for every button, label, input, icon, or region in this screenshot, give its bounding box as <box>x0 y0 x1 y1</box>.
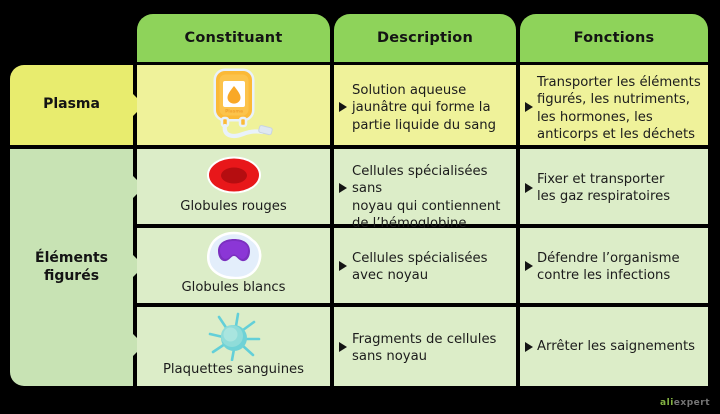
row-group-label-elements-figures: Éléments figurés <box>10 149 133 386</box>
row-group-figures-text: Éléments figurés <box>10 250 133 285</box>
bullet-arrow-icon <box>339 342 347 352</box>
cell-description-globules-rouges: Cellules spécialisées sans noyau qui con… <box>334 149 516 224</box>
fonctions-plasma-text: Transporter les éléments figurés, les nu… <box>537 74 707 144</box>
white-blood-cell-icon <box>205 231 263 279</box>
cell-fonctions-globules-blancs: Défendre l’organisme contre les infectio… <box>520 228 708 303</box>
header-constituant-label: Constituant <box>185 30 283 46</box>
header-fonctions: Fonctions <box>520 14 708 62</box>
description-globules-blancs-text: Cellules spécialisées avec noyau <box>352 250 516 285</box>
watermark: aliexpert <box>660 398 710 408</box>
cell-constituant-plasma: Plasma <box>137 65 330 145</box>
bullet-arrow-icon <box>525 183 533 193</box>
blood-components-table: Constituant Description Fonctions Plasma… <box>0 0 720 414</box>
watermark-left: ali <box>660 398 674 408</box>
fonctions-globules-rouges-text: Fixer et transporter les gaz respiratoir… <box>537 171 707 206</box>
fonctions-globules-blancs-text: Défendre l’organisme contre les infectio… <box>537 250 707 285</box>
description-plasma-text: Solution aqueuse jaunâtre qui forme la p… <box>352 82 512 134</box>
cell-fonctions-globules-rouges: Fixer et transporter les gaz respiratoir… <box>520 149 708 224</box>
red-blood-cell-icon <box>203 154 265 196</box>
description-globules-rouges-text: Cellules spécialisées sans noyau qui con… <box>352 163 516 233</box>
caption-globules-blancs: Globules blancs <box>137 280 330 295</box>
header-fonctions-label: Fonctions <box>574 30 655 46</box>
row-group-plasma-text: Plasma <box>43 96 100 114</box>
description-plaquettes-text: Fragments de cellules sans noyau <box>352 331 516 366</box>
bullet-arrow-icon <box>525 102 533 112</box>
header-description-label: Description <box>377 30 473 46</box>
cell-description-plaquettes: Fragments de cellules sans noyau <box>334 307 516 386</box>
cell-constituant-globules-rouges: Globules rouges <box>137 149 330 224</box>
bullet-arrow-icon <box>525 261 533 271</box>
header-description: Description <box>334 14 516 62</box>
cell-constituant-globules-blancs: Globules blancs <box>137 228 330 303</box>
fonctions-plaquettes-text: Arrêter les saignements <box>537 338 707 355</box>
bullet-arrow-icon <box>339 261 347 271</box>
bullet-arrow-icon <box>339 183 347 193</box>
cell-description-globules-blancs: Cellules spécialisées avec noyau <box>334 228 516 303</box>
watermark-right: expert <box>674 398 710 408</box>
cell-fonctions-plasma: Transporter les éléments figurés, les nu… <box>520 65 708 145</box>
bullet-arrow-icon <box>525 342 533 352</box>
row-group-label-plasma: Plasma <box>10 65 133 145</box>
cell-description-plasma: Solution aqueuse jaunâtre qui forme la p… <box>334 65 516 145</box>
plasma-bag-text: Plasma <box>225 109 243 115</box>
bullet-arrow-icon <box>339 102 347 112</box>
cell-constituant-plaquettes: Plaquettes sanguines <box>137 307 330 386</box>
cell-fonctions-plaquettes: Arrêter les saignements <box>520 307 708 386</box>
caption-plaquettes: Plaquettes sanguines <box>137 362 330 377</box>
plasma-bag-icon: Plasma <box>189 68 279 144</box>
platelet-icon <box>205 311 263 361</box>
caption-globules-rouges: Globules rouges <box>137 199 330 214</box>
header-constituant: Constituant <box>137 14 330 62</box>
